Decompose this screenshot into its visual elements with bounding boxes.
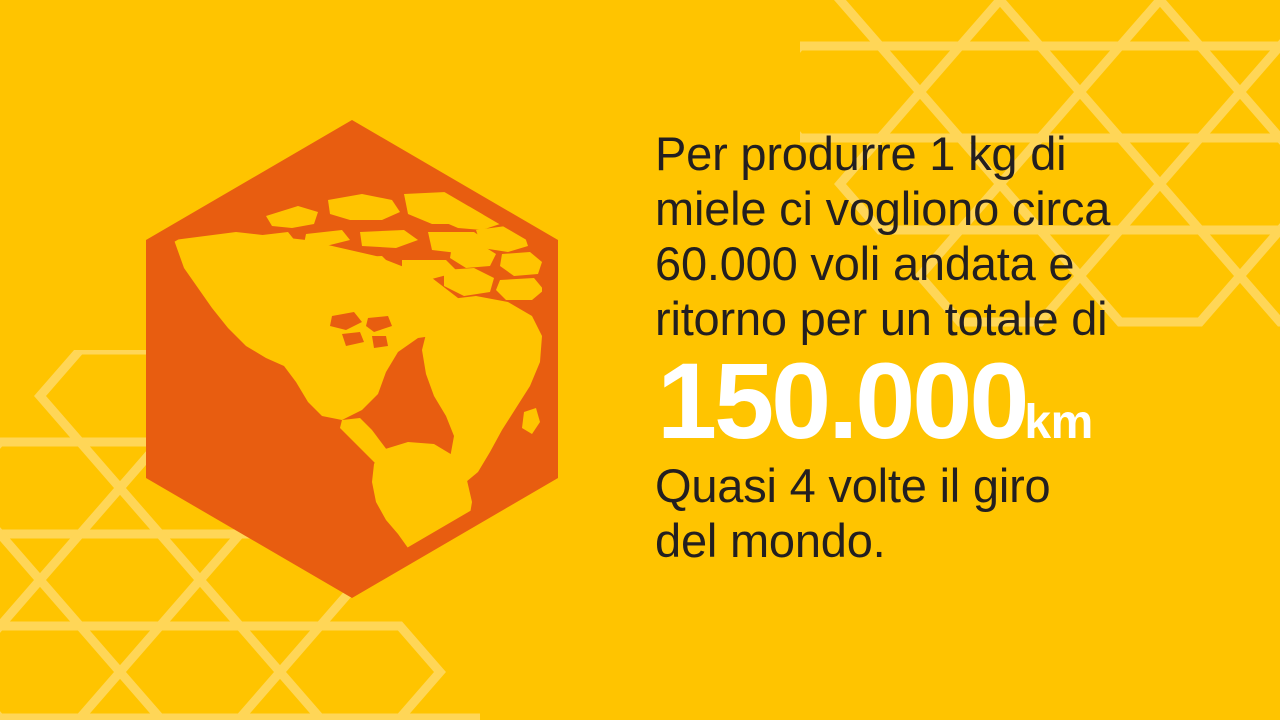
lead-line-2: miele ci vogliono circa [655,181,1255,236]
headline-unit: km [1024,399,1092,447]
tail-block: Quasi 4 volte il giro del mondo. [655,458,1255,568]
tail-line-2: del mondo. [655,513,1255,568]
headline-value: 150.000 [657,348,1026,454]
lead-line-4: ritorno per un totale di [655,291,1255,346]
text-block: Per produrre 1 kg di miele ci vogliono c… [655,126,1255,568]
lead-line-3: 60.000 voli andata e [655,236,1255,291]
globe-hexagon-icon [146,120,558,598]
headline-figure: 150.000 km [657,348,1255,454]
tail-line-1: Quasi 4 volte il giro [655,458,1255,513]
infographic-canvas: Per produrre 1 kg di miele ci vogliono c… [0,0,1280,720]
lead-line-1: Per produrre 1 kg di [655,126,1255,181]
